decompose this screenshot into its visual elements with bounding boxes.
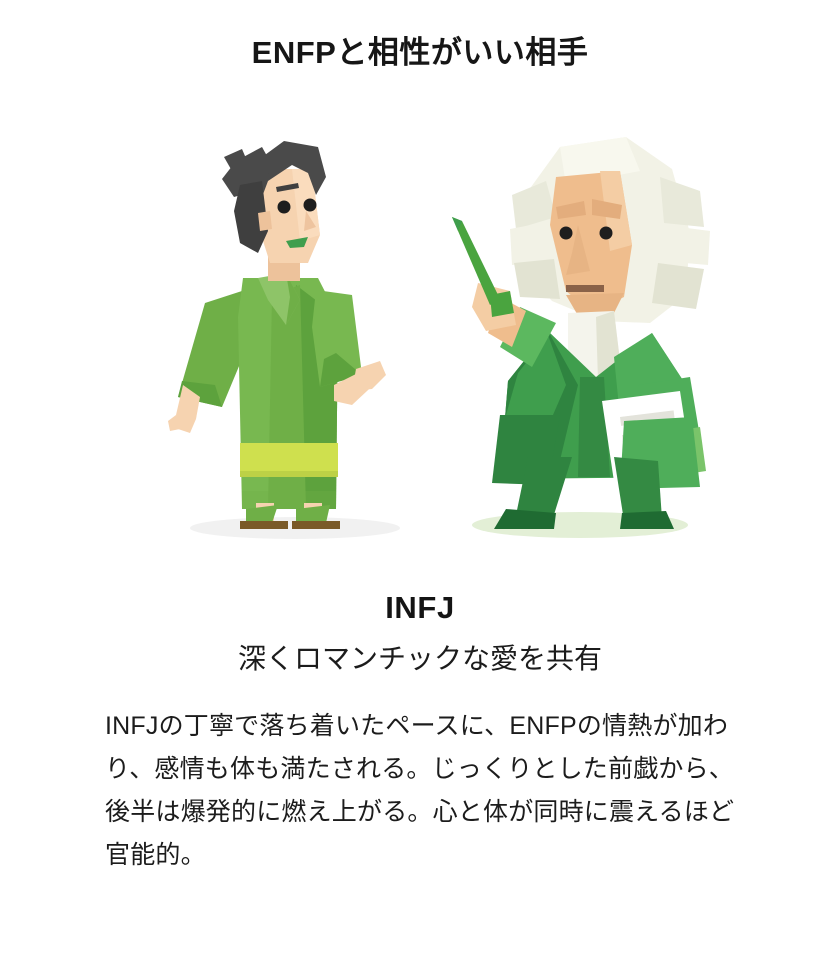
woman-obi-sash-shade (240, 471, 338, 477)
kimono-woman-character (168, 141, 386, 529)
compatible-type-block: INFJ 深くロマンチックな愛を共有 (0, 589, 840, 677)
wigged-scholar-character (452, 137, 710, 529)
woman-eye-right (304, 199, 317, 212)
compatibility-description: INFJの丁寧で落ち着いたペースに、ENFPの情熱が加わり、感情も体も満たされる… (105, 705, 735, 877)
scholar-wig-curl-right-top (660, 177, 704, 227)
woman-sandal-sole-right (292, 521, 340, 529)
compatible-type-name: INFJ (0, 589, 840, 628)
scholar-wig-curl-left-low (514, 259, 560, 299)
scholar-eye-left (560, 227, 573, 240)
woman-eye-left (278, 201, 291, 214)
woman-ear (258, 211, 272, 231)
scholar-shoe-right (620, 511, 674, 529)
scholar-wig-curl-right-low (652, 263, 704, 309)
page-title: ENFPと相性がいい相手 (252, 0, 589, 71)
scholar-leg-right (614, 457, 662, 521)
scholar-wig-curl-right-mid (662, 225, 710, 265)
scholar-eye-right (600, 227, 613, 240)
scholar-mouth (566, 285, 604, 292)
compatibility-illustration (0, 85, 840, 585)
compatibility-result-page: ENFPと相性がいい相手 (0, 0, 840, 960)
compatible-type-tagline: 深くロマンチックな愛を共有 (0, 641, 840, 677)
woman-sandal-sole-left (240, 521, 288, 529)
